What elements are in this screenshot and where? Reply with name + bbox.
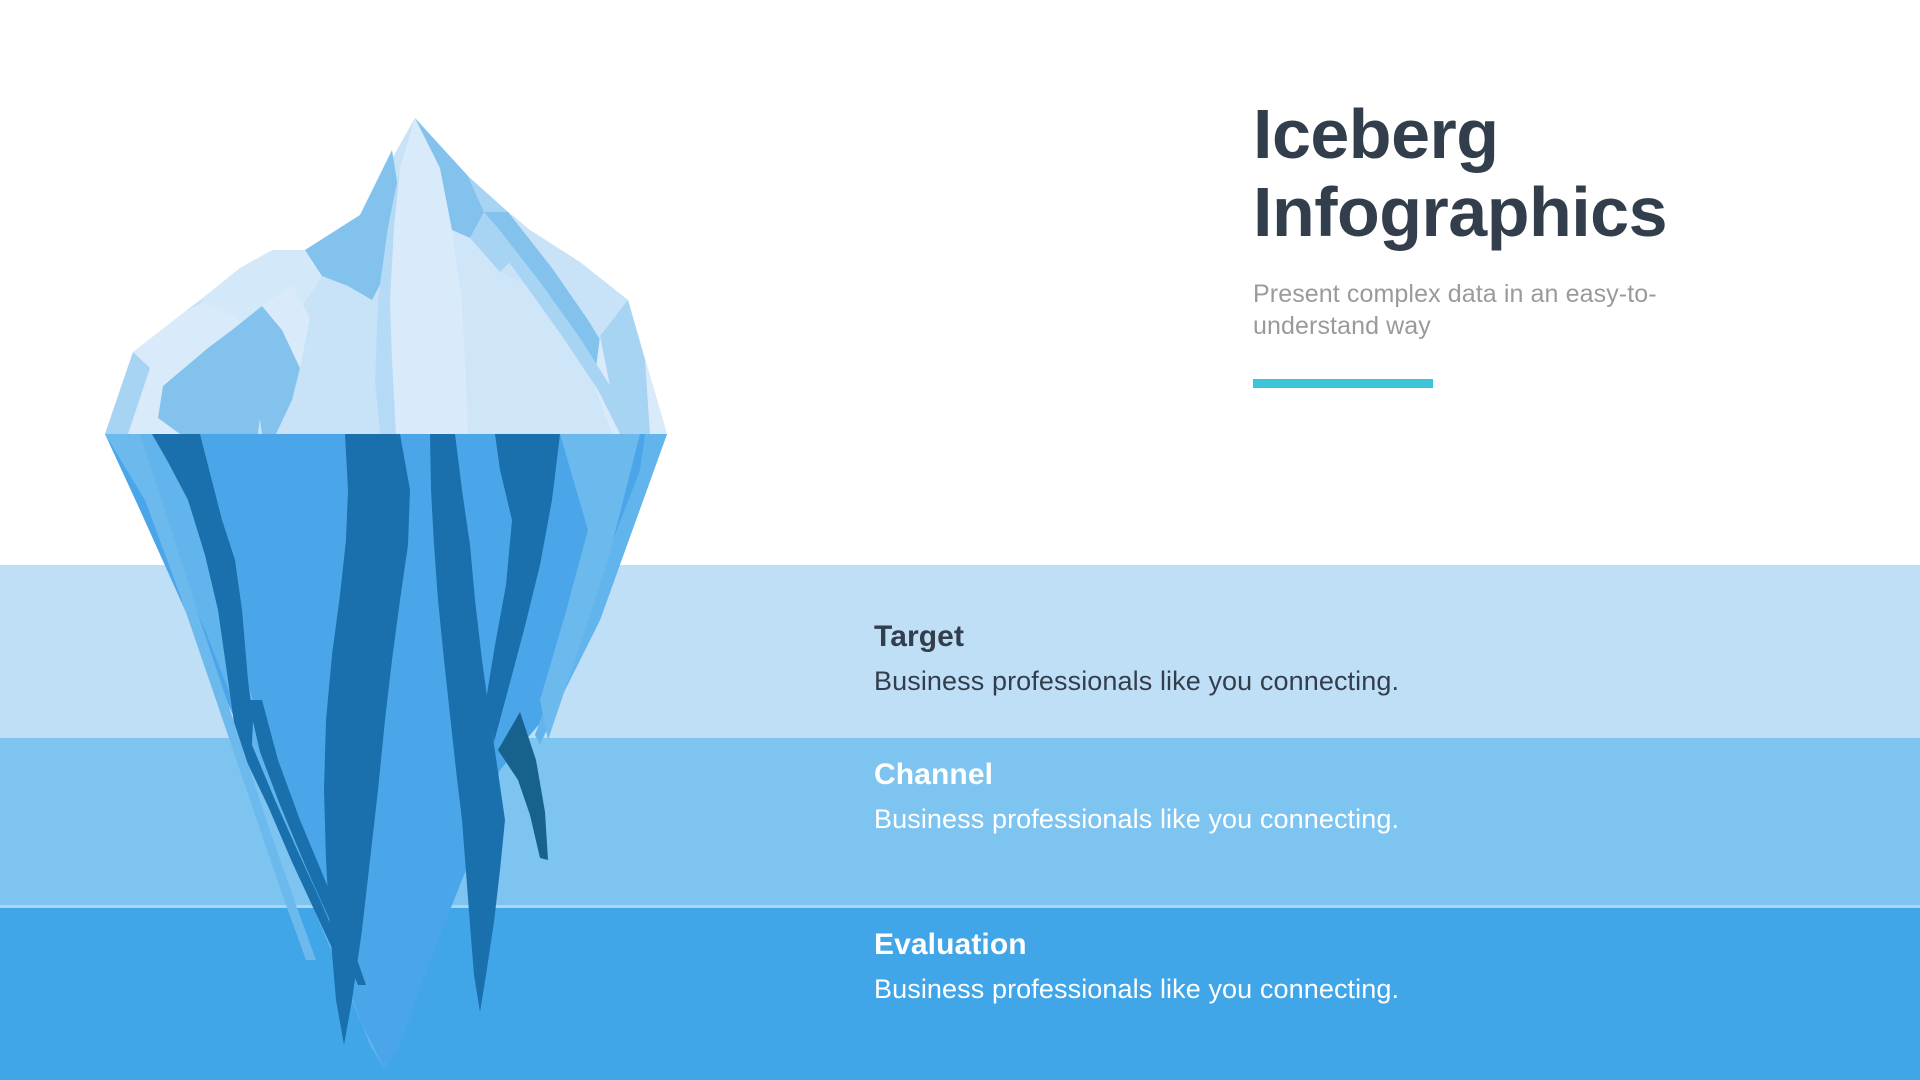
page-subtitle: Present complex data in an easy-to-under… [1253, 278, 1743, 343]
band-description-target: Business professionals like you connecti… [874, 665, 1654, 697]
band-title-evaluation: Evaluation [874, 928, 1654, 961]
title-block: Iceberg Infographics Present complex dat… [1253, 95, 1873, 388]
band-entry-channel: Channel Business professionals like you … [874, 758, 1654, 835]
iceberg-underwater [105, 434, 667, 1070]
band-description-channel: Business professionals like you connecti… [874, 803, 1654, 835]
iceberg-tip [105, 118, 667, 434]
band-entry-evaluation: Evaluation Business professionals like y… [874, 928, 1654, 1005]
accent-underline-bar [1253, 379, 1433, 388]
page-title-line-2: Infographics [1253, 173, 1873, 251]
band-description-evaluation: Business professionals like you connecti… [874, 973, 1654, 1005]
infographic-slide: Iceberg Infographics Present complex dat… [0, 0, 1920, 1080]
band-entry-target: Target Business professionals like you c… [874, 620, 1654, 697]
page-title: Iceberg Infographics [1253, 95, 1873, 252]
iceberg-illustration [0, 0, 860, 1080]
page-title-line-1: Iceberg [1253, 95, 1873, 173]
band-title-channel: Channel [874, 758, 1654, 791]
band-title-target: Target [874, 620, 1654, 653]
